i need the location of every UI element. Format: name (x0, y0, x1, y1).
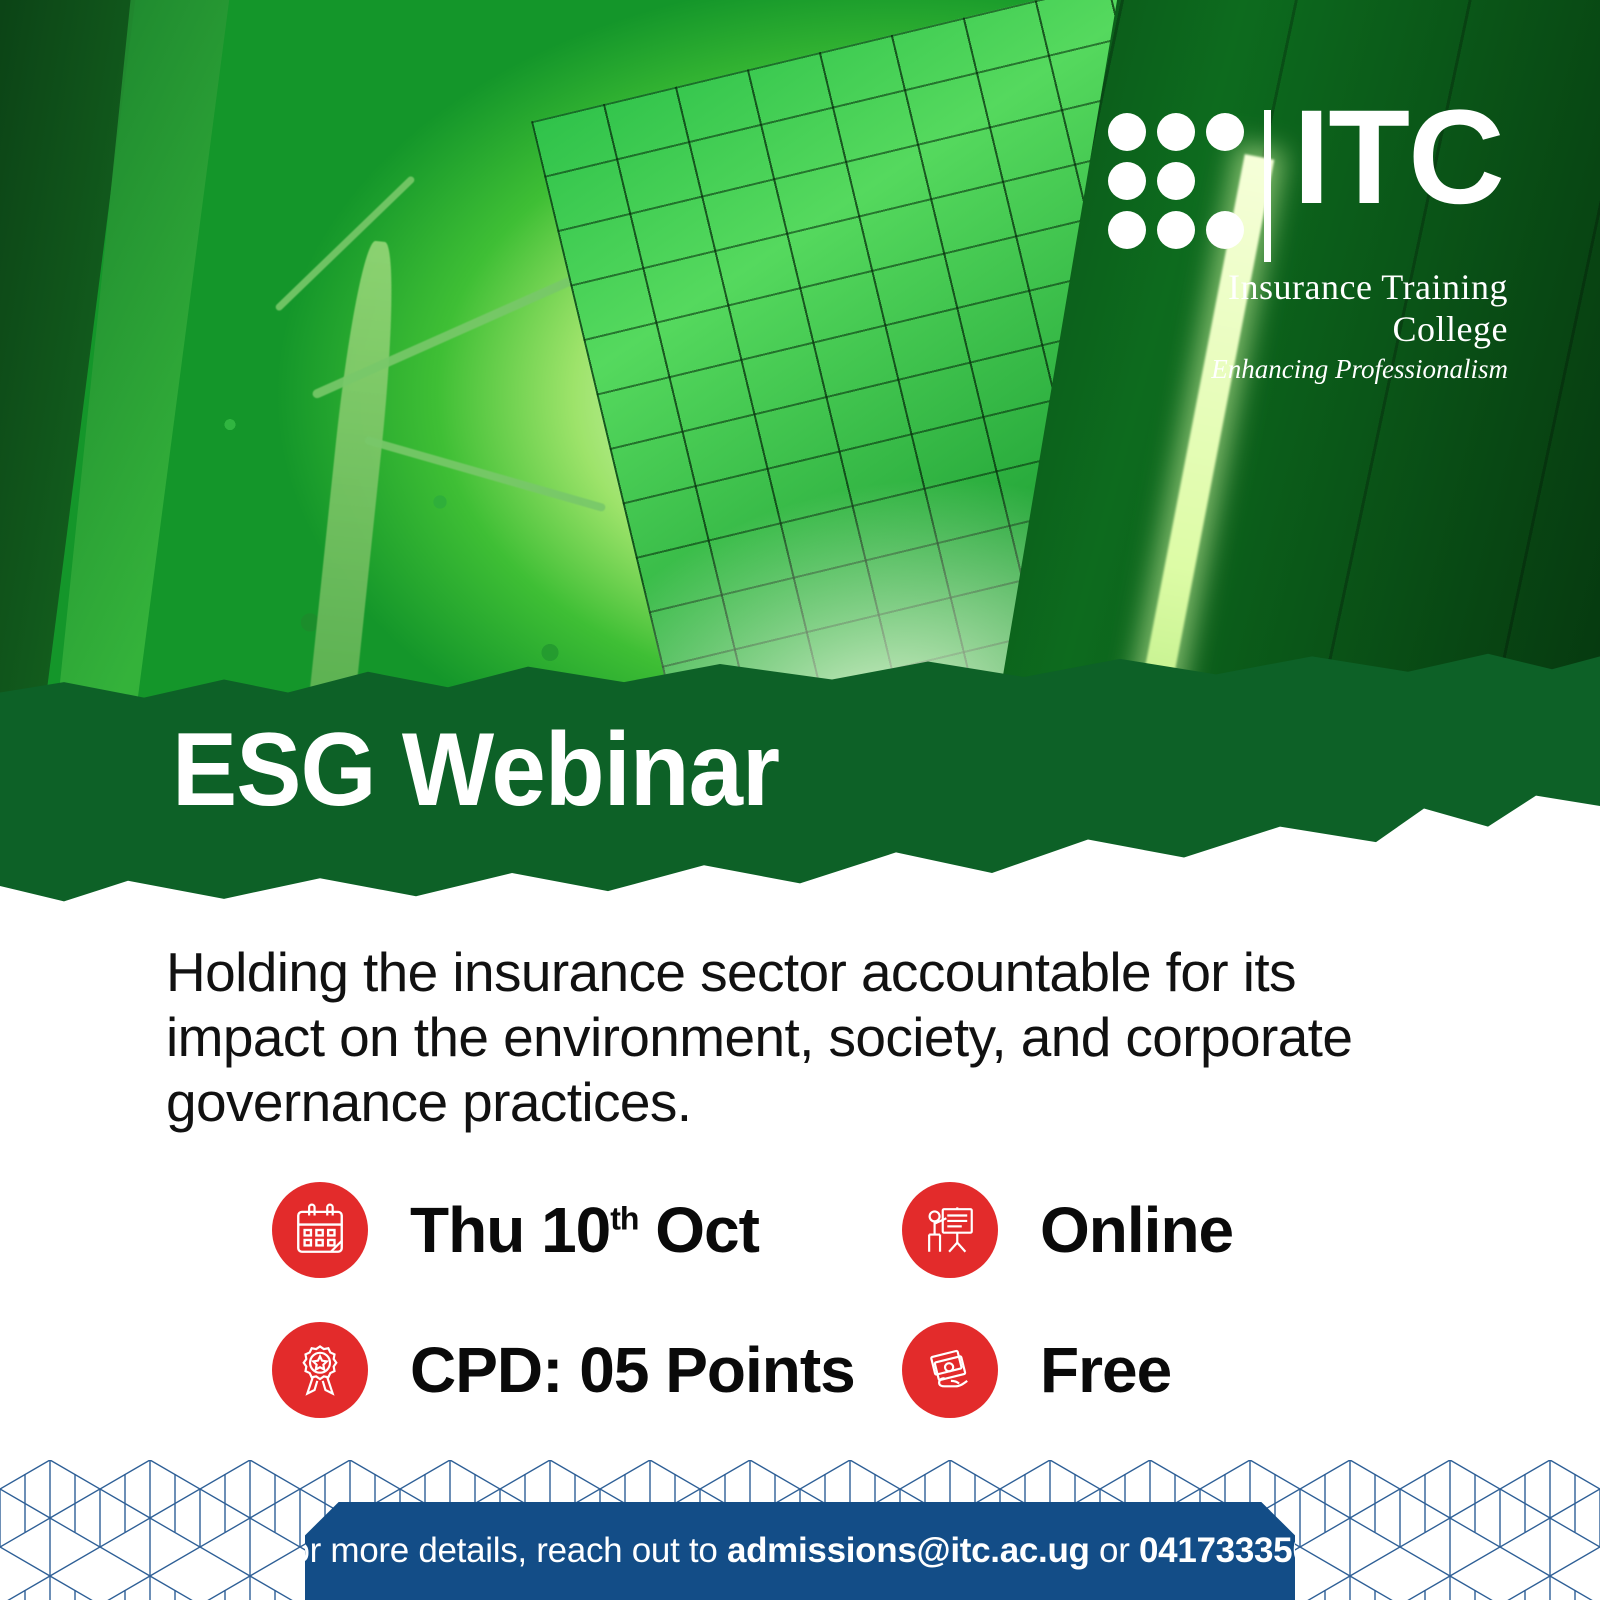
logo-tagline: Enhancing Professionalism (1108, 354, 1508, 385)
logo-divider (1264, 110, 1271, 262)
calendar-icon (272, 1182, 368, 1278)
logo-dot (1108, 162, 1146, 200)
logo-dot (1157, 211, 1195, 249)
contact-lead: For more details, reach out to (269, 1531, 727, 1570)
detail-cpd: CPD: 05 Points (272, 1322, 902, 1418)
details-row-1: Thu 10th Oct Online (272, 1160, 1452, 1300)
presenter-icon (902, 1182, 998, 1278)
detail-mode: Online (902, 1182, 1233, 1278)
contact-text: For more details, reach out to admission… (269, 1531, 1330, 1571)
logo-dot-grid (1108, 113, 1244, 249)
poster-canvas: ITC Insurance Training College Enhancing… (0, 0, 1600, 1600)
details-row-2: CPD: 05 Points Free (272, 1300, 1452, 1440)
contact-banner: For more details, reach out to admission… (305, 1502, 1295, 1600)
logo-name: Insurance Training College (1108, 266, 1508, 350)
description-text: Holding the insurance sector accountable… (166, 940, 1446, 1135)
detail-price: Free (902, 1322, 1171, 1418)
detail-date: Thu 10th Oct (272, 1182, 902, 1278)
contact-conjunction: or (1090, 1531, 1139, 1570)
logo-dot-empty (1206, 162, 1244, 200)
award-ribbon-icon (272, 1322, 368, 1418)
logo-dot (1157, 113, 1195, 151)
logo-dot (1108, 113, 1146, 151)
detail-price-label: Free (1040, 1333, 1171, 1407)
event-details: Thu 10th Oct Online (272, 1160, 1452, 1440)
detail-cpd-label: CPD: 05 Points (410, 1333, 855, 1407)
itc-logo: ITC Insurance Training College Enhancing… (1108, 104, 1508, 385)
logo-dot (1206, 211, 1244, 249)
page-title: ESG Webinar (172, 718, 1206, 822)
logo-dot (1108, 211, 1146, 249)
logo-dot (1157, 162, 1195, 200)
cash-in-hand-icon (902, 1322, 998, 1418)
logo-mark-row: ITC (1108, 104, 1508, 262)
detail-mode-label: Online (1040, 1193, 1233, 1267)
contact-email[interactable]: admissions@itc.ac.ug (727, 1531, 1090, 1570)
logo-letters: ITC (1293, 96, 1503, 219)
logo-dot (1206, 113, 1244, 151)
detail-date-label: Thu 10th Oct (410, 1193, 759, 1267)
